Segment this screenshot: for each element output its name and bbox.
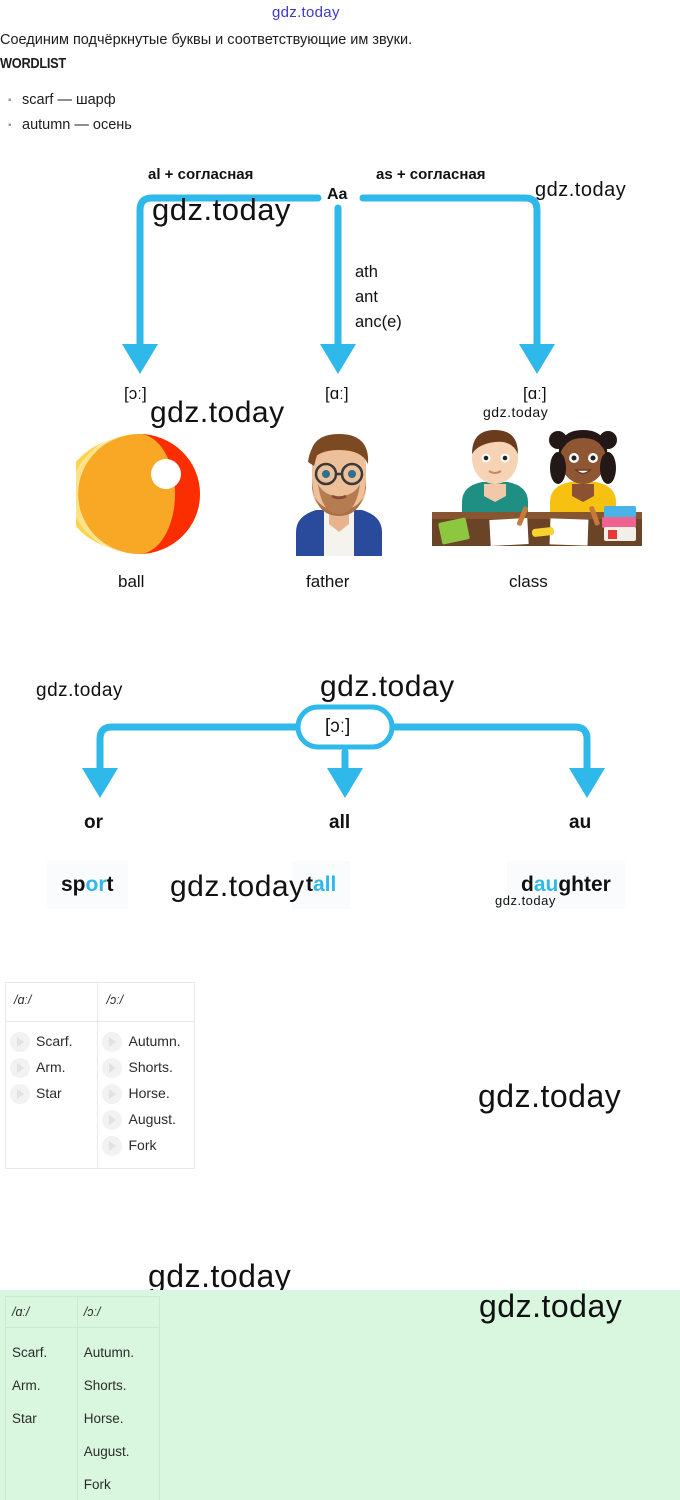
word-part-highlight: or: [86, 873, 107, 896]
wordlist-container: scarf — шарф autumn — осень: [0, 88, 400, 133]
answer-word: Star: [12, 1402, 71, 1435]
watermark: gdz.today: [483, 404, 548, 420]
play-icon[interactable]: [10, 1058, 30, 1078]
column-header-long-o: /ɔː/: [77, 1297, 159, 1328]
word-caption-class: class: [509, 572, 548, 592]
audio-item[interactable]: Shorts.: [102, 1054, 190, 1080]
answer-table: /ɑː/ /ɔː/ Scarf. Arm. Star Autumn. Short…: [5, 1296, 160, 1500]
play-icon[interactable]: [102, 1058, 122, 1078]
audio-table-viewport[interactable]: /ɑː/ /ɔː/ Scarf. Arm.: [0, 982, 230, 1290]
column-header-long-a: /ɑː/: [6, 983, 98, 1022]
word-caption-ball: ball: [118, 572, 144, 592]
rule-label-middle: ath ant anc(e): [355, 260, 402, 335]
column-header-long-o: /ɔː/: [98, 983, 195, 1022]
watermark: gdz.today: [36, 680, 123, 702]
answer-word: Arm.: [12, 1369, 71, 1402]
page-root: gdz.today Соединим подчёркнутые буквы и …: [0, 0, 680, 1500]
play-icon[interactable]: [102, 1084, 122, 1104]
column-header-long-a: /ɑː/: [6, 1297, 78, 1328]
audio-item[interactable]: Fork: [102, 1132, 190, 1158]
audio-cell-long-o: Autumn. Shorts. Horse. August.: [98, 1022, 195, 1169]
branch-label-all: all: [329, 812, 350, 834]
answer-word: August.: [84, 1435, 153, 1468]
word-part-suffix: t: [107, 873, 114, 896]
answer-word: Horse.: [84, 1402, 153, 1435]
audio-word: Shorts.: [128, 1054, 172, 1080]
answer-cell-long-o: Autumn. Shorts. Horse. August. Fork: [77, 1328, 159, 1500]
answer-word: Scarf.: [12, 1336, 71, 1369]
watermark: gdz.today: [535, 179, 626, 202]
branch-label-au: au: [569, 812, 591, 834]
answer-word: Fork: [84, 1468, 153, 1500]
table-header-row: /ɑː/ /ɔː/: [6, 1297, 160, 1328]
table-header-row: /ɑː/ /ɔː/: [6, 983, 195, 1022]
word-part-highlight: au: [534, 873, 559, 896]
audio-word: Scarf.: [36, 1028, 73, 1054]
word-caption-father: father: [306, 572, 349, 592]
play-icon[interactable]: [102, 1110, 122, 1130]
rule-label-right: as + согласная: [376, 166, 486, 183]
branch-label-or: or: [84, 812, 103, 834]
watermark: gdz.today: [170, 870, 305, 904]
play-icon[interactable]: [102, 1032, 122, 1052]
audio-word: August.: [128, 1106, 175, 1132]
audio-item[interactable]: Horse.: [102, 1080, 190, 1106]
audio-item[interactable]: Scarf.: [10, 1028, 93, 1054]
audio-item[interactable]: August.: [102, 1106, 190, 1132]
word-part-prefix: sp: [61, 873, 86, 896]
example-word-tall: tall: [292, 861, 350, 909]
list-item: autumn — осень: [22, 113, 400, 133]
play-icon[interactable]: [102, 1136, 122, 1156]
watermark-top: gdz.today: [272, 4, 340, 21]
watermark: gdz.today: [478, 1078, 621, 1115]
answer-word: Shorts.: [84, 1369, 153, 1402]
audio-item[interactable]: Autumn.: [102, 1028, 190, 1054]
audio-table: /ɑː/ /ɔː/ Scarf. Arm.: [5, 982, 195, 1169]
table-row: Scarf. Arm. Star Autumn. Shorts. Horse. …: [6, 1328, 160, 1500]
play-icon[interactable]: [10, 1084, 30, 1104]
center-letter-aa: Aa: [327, 186, 347, 204]
audio-item[interactable]: Arm.: [10, 1054, 93, 1080]
watermark: gdz.today: [150, 396, 285, 430]
word-part-suffix: ghter: [558, 873, 611, 896]
answer-cell-long-a: Scarf. Arm. Star: [6, 1328, 78, 1500]
word-part-highlight: all: [313, 873, 336, 896]
audio-cell-long-a: Scarf. Arm. Star: [6, 1022, 98, 1169]
answer-word: Autumn.: [84, 1336, 153, 1369]
watermark: gdz.today: [320, 670, 455, 704]
example-word-sport: sport: [47, 861, 128, 909]
phoneme-label-ball: [ɔː]: [124, 384, 147, 404]
audio-word: Fork: [128, 1132, 156, 1158]
list-item: scarf — шарф: [22, 88, 400, 113]
example-word-daughter: daughter: [507, 861, 625, 909]
word-part-prefix: t: [306, 873, 313, 896]
word-part-prefix: d: [521, 873, 534, 896]
audio-word: Arm.: [36, 1054, 66, 1080]
two-pupils-at-desk-image: [432, 424, 642, 556]
table-row: Scarf. Arm. Star: [6, 1022, 195, 1169]
audio-word: Autumn.: [128, 1028, 180, 1054]
audio-word: Star: [36, 1080, 62, 1106]
page-intro: Соединим подчёркнутые буквы и соответств…: [0, 31, 680, 49]
audio-word: Horse.: [128, 1080, 169, 1106]
play-icon[interactable]: [10, 1032, 30, 1052]
watermark: gdz.today: [152, 192, 291, 228]
rule-label-left: al + согласная: [148, 166, 253, 183]
man-with-beard-image: [274, 424, 404, 556]
wordlist-heading: WORDLIST: [0, 55, 66, 72]
audio-item[interactable]: Star: [10, 1080, 93, 1106]
answer-panel: /ɑː/ /ɔː/ Scarf. Arm. Star Autumn. Short…: [0, 1290, 680, 1500]
phoneme-label-class: [ɑː]: [523, 384, 547, 404]
beach-ball-image: [76, 432, 202, 556]
phoneme-label-father: [ɑː]: [325, 384, 349, 404]
center-phoneme-box-label: [ɔː]: [325, 716, 350, 738]
